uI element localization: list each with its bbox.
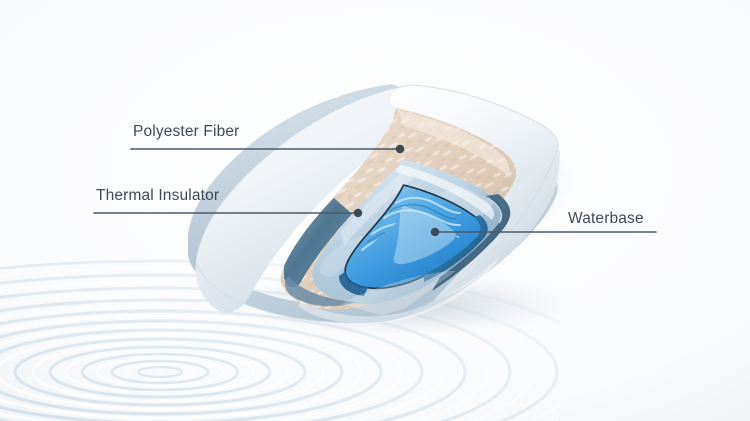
polyester-fiber-dot — [396, 145, 404, 153]
thermal-insulator-dot — [354, 209, 362, 217]
diagram-canvas: Polyester Fiber Thermal Insulator Waterb… — [0, 0, 750, 421]
callout-label-thermal-insulator: Thermal Insulator — [96, 188, 219, 204]
callout-label-polyester-fiber: Polyester Fiber — [133, 124, 239, 140]
callout-label-waterbase: Waterbase — [568, 211, 644, 227]
waterbase-dot — [431, 228, 439, 236]
